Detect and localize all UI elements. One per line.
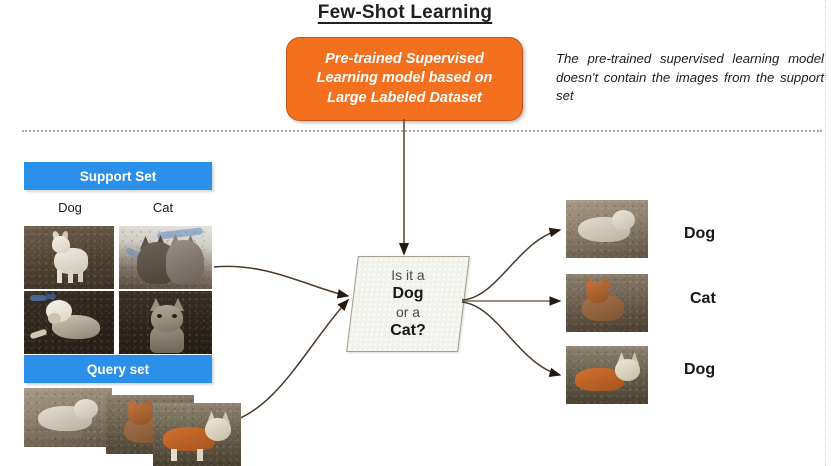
result-image-1 [566,200,648,258]
arrow-decision-to-result-3 [462,302,560,375]
dog-head [52,236,70,253]
result-label-3: Dog [684,361,764,379]
arrow-decision-to-result-1 [462,230,560,300]
background-accent [45,294,56,299]
support-set-header: Support Set [24,162,212,190]
decision-line-1: Is it a [391,267,424,284]
dog-head [615,359,640,381]
ground-shadow [44,432,82,437]
decision-line-3: or a [396,304,420,321]
section-divider [22,130,822,132]
query-image-3 [153,403,241,466]
cat-head [128,404,152,425]
query-image-1 [24,388,112,447]
page-title: Few-Shot Learning [305,2,505,24]
dog-leg [57,270,62,283]
diagram-canvas: Few-Shot Learning Pre-trained Supervised… [0,0,831,466]
page-edge-guide [825,0,826,466]
support-image-dog-1 [24,226,114,289]
cat-head [151,305,183,332]
pretrained-model-box: Pre-trained Supervised Learning model ba… [286,37,523,121]
result-image-3 [566,346,648,404]
query-set-header-label: Query set [87,362,149,377]
explanatory-note: The pre-trained supervised learning mode… [556,50,824,106]
decision-line-4: Cat? [390,321,426,341]
dog-leg [197,449,203,461]
support-image-dog-2 [24,291,114,354]
pretrained-model-label: Pre-trained Supervised Learning model ba… [287,50,522,107]
dog-head [205,418,231,441]
dog-muzzle [48,313,61,324]
arrow-support-to-decision [214,266,348,296]
result-label-2: Cat [690,290,770,308]
dog-leg [78,269,83,282]
dog-head [612,210,635,230]
cat-eye [172,314,177,318]
support-set-header-label: Support Set [80,169,157,184]
query-set-header: Query set [24,355,212,383]
cat-body [166,240,204,284]
cat-head [586,282,609,303]
decision-text: Is it a Dog or a Cat? [352,256,464,352]
dog-leg [171,449,177,461]
result-label-1: Dog [684,225,764,243]
support-image-cat-2 [119,291,212,354]
background-accent [30,295,46,301]
dog-leg [68,270,73,283]
cat-eye [157,314,162,318]
dog-head [74,399,98,419]
decision-line-2: Dog [392,284,423,304]
support-image-cat-1 [119,226,212,289]
support-class-label-cat: Cat [128,200,198,215]
result-image-2 [566,274,648,332]
support-class-label-dog: Dog [35,200,105,215]
decision-node: Is it a Dog or a Cat? [352,256,464,352]
